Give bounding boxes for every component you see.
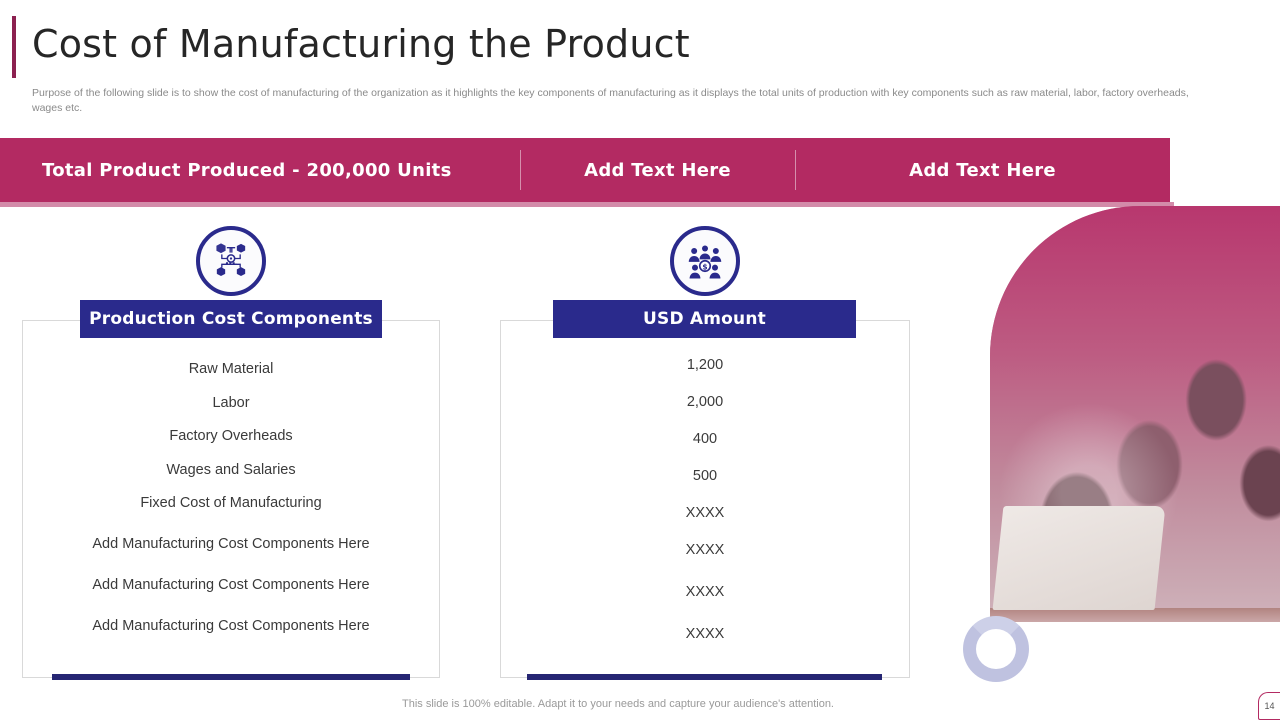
banner-cell-label: Add Text Here	[584, 160, 731, 181]
list-item[interactable]: XXXX	[686, 584, 725, 600]
title-accent-bar	[12, 16, 16, 78]
page-subtitle: Purpose of the following slide is to sho…	[32, 86, 1222, 116]
ring-decoration-icon	[963, 616, 1029, 682]
banner-cell-add-text-2[interactable]: Add Text Here	[795, 138, 1170, 202]
list-item[interactable]: XXXX	[686, 542, 725, 558]
production-cost-header: Production Cost Components	[80, 300, 382, 338]
banner-divider	[520, 150, 521, 190]
slide-root: Cost of Manufacturing the Product Purpos…	[0, 0, 1280, 720]
manufacturing-network-icon	[196, 226, 266, 296]
production-cost-accent-bar	[52, 674, 410, 680]
page-title: Cost of Manufacturing the Product	[32, 22, 690, 66]
list-item[interactable]: XXXX	[686, 505, 725, 521]
production-cost-table: Raw Material Labor Factory Overheads Wag…	[22, 320, 440, 678]
list-item: Wages and Salaries	[166, 462, 295, 478]
usd-amount-rows: 1,200 2,000 400 500 XXXX XXXX XXXX XXXX	[501, 357, 909, 663]
desk-surface	[990, 608, 1280, 622]
list-item: Raw Material	[189, 361, 274, 377]
banner-divider	[795, 150, 796, 190]
list-item[interactable]: Add Manufacturing Cost Components Here	[92, 618, 369, 634]
column-header-label: USD Amount	[643, 309, 766, 329]
usd-amount-accent-bar	[527, 674, 882, 680]
list-item: 1,200	[687, 357, 723, 373]
banner-cell-total-product[interactable]: Total Product Produced - 200,000 Units	[0, 138, 520, 202]
laptop-shape	[993, 506, 1166, 610]
list-item: Fixed Cost of Manufacturing	[140, 495, 321, 511]
list-item: Factory Overheads	[169, 428, 292, 444]
photo-base-fade	[990, 622, 1280, 668]
banner-cell-add-text-1[interactable]: Add Text Here	[520, 138, 795, 202]
list-item[interactable]: XXXX	[686, 626, 725, 642]
production-cost-rows: Raw Material Labor Factory Overheads Wag…	[23, 361, 439, 652]
team-cost-icon: $	[670, 226, 740, 296]
usd-amount-header: USD Amount	[553, 300, 856, 338]
footer-note: This slide is 100% editable. Adapt it to…	[402, 698, 834, 710]
list-item: 500	[693, 468, 717, 484]
column-header-label: Production Cost Components	[89, 309, 373, 329]
list-item[interactable]: Add Manufacturing Cost Components Here	[92, 536, 369, 552]
page-number-badge: 14	[1258, 692, 1280, 720]
list-item[interactable]: Add Manufacturing Cost Components Here	[92, 577, 369, 593]
banner-cell-label: Add Text Here	[909, 160, 1056, 181]
summary-banner: Total Product Produced - 200,000 Units A…	[0, 138, 1170, 202]
team-photo	[990, 206, 1280, 668]
banner-cell-label: Total Product Produced - 200,000 Units	[42, 160, 452, 181]
list-item: 400	[693, 431, 717, 447]
list-item: 2,000	[687, 394, 723, 410]
usd-amount-table: 1,200 2,000 400 500 XXXX XXXX XXXX XXXX	[500, 320, 910, 678]
svg-text:$: $	[702, 263, 707, 272]
list-item: Labor	[212, 395, 249, 411]
